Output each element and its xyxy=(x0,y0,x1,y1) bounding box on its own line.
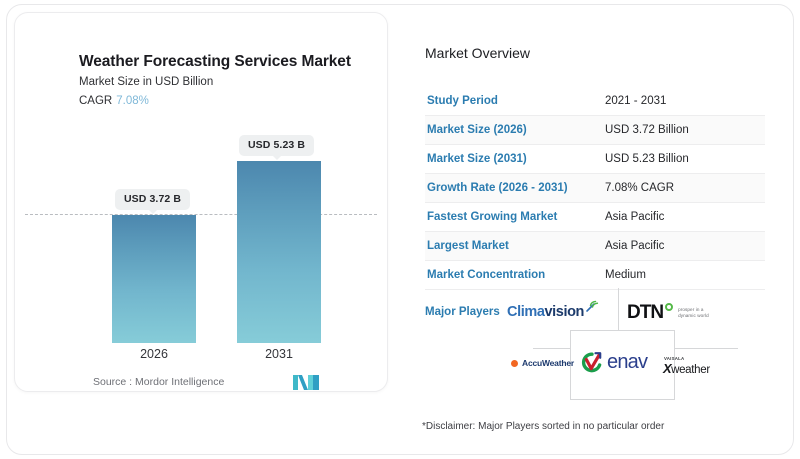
dtn-tagline: prosper in a dynamic world xyxy=(678,307,709,319)
row-key: Study Period xyxy=(425,87,603,116)
row-key: Growth Rate (2026 - 2031) xyxy=(425,174,603,203)
x-axis-label-2031: 2031 xyxy=(237,347,321,361)
dtn-tagline-line1: prosper in a xyxy=(678,307,703,312)
logo-dtn: DTN prosper in a dynamic world xyxy=(627,302,709,324)
accuweather-wordmark: AccuWeather xyxy=(522,358,574,368)
dtn-tagline-line2: dynamic world xyxy=(678,313,709,318)
screenshot-root: Weather Forecasting Services Market Mark… xyxy=(0,0,800,459)
major-players-logo-grid: Climavision DTN prosper in a dynamic wor… xyxy=(505,288,740,400)
logo-enav: enav xyxy=(579,350,647,374)
logo-accuweather: AccuWeather xyxy=(511,358,574,368)
enav-mark-icon xyxy=(579,350,605,374)
bar-label-2026: USD 3.72 B xyxy=(115,189,190,210)
xweather-wordmark: Xweather xyxy=(663,361,710,376)
signal-waves-icon xyxy=(585,300,599,314)
row-value: 2021 - 2031 xyxy=(603,87,765,116)
reference-dashed-line xyxy=(25,214,377,215)
table-row: Market Size (2031) USD 5.23 Billion xyxy=(425,145,765,174)
x-axis-label-2026: 2026 xyxy=(112,347,196,361)
row-key: Market Size (2031) xyxy=(425,145,603,174)
xweather-rest: weather xyxy=(671,364,710,376)
row-value: USD 3.72 Billion xyxy=(603,116,765,145)
bar-2026 xyxy=(112,215,196,343)
green-circle-icon xyxy=(665,303,673,311)
market-overview-panel: Market Overview Study Period 2021 - 2031… xyxy=(425,45,775,318)
row-key: Largest Market xyxy=(425,232,603,261)
xweather-x: X xyxy=(663,361,671,376)
orange-sun-dot-icon xyxy=(511,360,518,367)
table-row: Largest Market Asia Pacific xyxy=(425,232,765,261)
source-text: Source : Mordor Intelligence xyxy=(93,376,224,388)
dtn-wordmark: DTN xyxy=(627,302,663,324)
chart-card: Weather Forecasting Services Market Mark… xyxy=(14,12,388,392)
row-key: Fastest Growing Market xyxy=(425,203,603,232)
overview-title: Market Overview xyxy=(425,45,775,61)
overview-table: Study Period 2021 - 2031 Market Size (20… xyxy=(425,87,765,290)
table-row: Growth Rate (2026 - 2031) 7.08% CAGR xyxy=(425,174,765,203)
bar-2031 xyxy=(237,161,321,343)
mordor-intelligence-logo xyxy=(293,374,319,390)
row-value: Asia Pacific xyxy=(603,232,765,261)
table-row: Market Size (2026) USD 3.72 Billion xyxy=(425,116,765,145)
climavision-part2: vision xyxy=(545,304,585,320)
row-value: 7.08% CAGR xyxy=(603,174,765,203)
row-value: Medium xyxy=(603,261,765,290)
row-key: Market Concentration xyxy=(425,261,603,290)
table-row: Market Concentration Medium xyxy=(425,261,765,290)
row-value: USD 5.23 Billion xyxy=(603,145,765,174)
row-value: Asia Pacific xyxy=(603,203,765,232)
bar-label-2031: USD 5.23 B xyxy=(239,135,314,156)
row-key: Market Size (2026) xyxy=(425,116,603,145)
logo-xweather: VAISALA Xweather xyxy=(663,356,710,376)
table-row: Study Period 2021 - 2031 xyxy=(425,87,765,116)
disclaimer-text: *Disclaimer: Major Players sorted in no … xyxy=(422,421,664,432)
climavision-part1: Clima xyxy=(507,304,545,320)
logo-climavision: Climavision xyxy=(507,304,599,320)
enav-wordmark: enav xyxy=(607,351,647,374)
table-row: Fastest Growing Market Asia Pacific xyxy=(425,203,765,232)
bar-chart-plot: USD 3.72 B USD 5.23 B 2026 2031 xyxy=(15,13,389,393)
